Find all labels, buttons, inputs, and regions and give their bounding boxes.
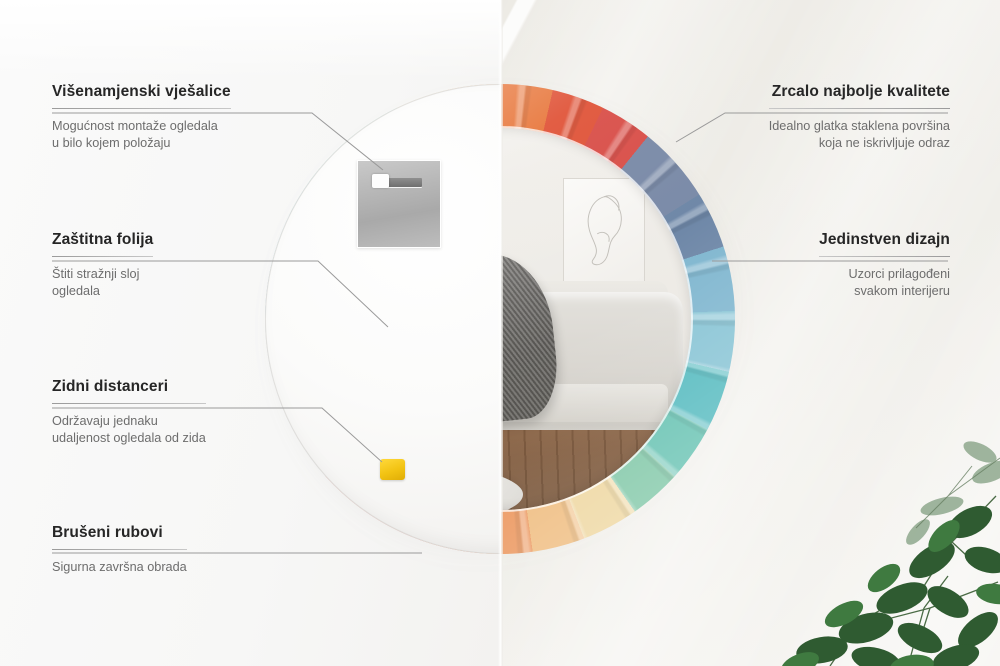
callout-protective-foil-desc-line-1: Štiti stražnji sloj <box>52 266 153 283</box>
callout-wall-spacers-title: Zidni distanceri <box>52 378 206 396</box>
callout-wall-spacers: Zidni distanceri Održavaju jednaku udalj… <box>52 378 206 447</box>
callout-protective-foil-title: Zaštitna folija <box>52 231 153 249</box>
callout-protective-foil: Zaštitna folija Štiti stražnji sloj ogle… <box>52 231 153 300</box>
callout-unique-design-title: Jedinstven dizajn <box>819 231 950 249</box>
callout-protective-foil-desc-line-2: ogledala <box>52 283 153 300</box>
callout-wall-spacers-rule <box>52 403 206 404</box>
yellow-spacer <box>380 459 405 480</box>
callout-unique-design-desc-line-1: Uzorci prilagođeni <box>819 266 950 283</box>
callout-hangers-desc-line-2: u bilo kojem položaju <box>52 135 231 152</box>
callout-mirror-quality-desc: Idealno glatka staklena površina koja ne… <box>769 118 950 152</box>
hanger-keyhole <box>372 174 389 188</box>
callout-wall-spacers-desc: Održavaju jednaku udaljenost ogledala od… <box>52 413 206 447</box>
callout-polished-edges-rule <box>52 549 187 550</box>
callout-polished-edges-title: Brušeni rubovi <box>52 524 187 542</box>
callout-unique-design-rule <box>819 256 950 257</box>
callout-polished-edges-desc-line-1: Sigurna završna obrada <box>52 559 187 576</box>
callout-wall-spacers-desc-line-2: udaljenost ogledala od zida <box>52 430 206 447</box>
callout-mirror-quality-title: Zrcalo najbolje kvalitete <box>769 83 950 101</box>
foliage-decoration <box>680 346 1000 666</box>
infographic-stage: Višenamjenski vješalice Mogućnost montaž… <box>0 0 1000 666</box>
callout-mirror-quality-desc-line-2: koja ne iskrivljuje odraz <box>769 135 950 152</box>
callout-unique-design-desc: Uzorci prilagođeni svakom interijeru <box>819 266 950 300</box>
mirror-blank-back-half <box>265 84 501 554</box>
callout-hangers-title: Višenamjenski vješalice <box>52 83 231 101</box>
background-left-fade <box>0 0 501 80</box>
hanger-plate <box>357 160 441 248</box>
callout-hangers-desc: Mogućnost montaže ogledala u bilo kojem … <box>52 118 231 152</box>
callout-wall-spacers-desc-line-1: Održavaju jednaku <box>52 413 206 430</box>
callout-hangers: Višenamjenski vješalice Mogućnost montaž… <box>52 83 231 152</box>
callout-hangers-desc-line-1: Mogućnost montaže ogledala <box>52 118 231 135</box>
callout-mirror-quality-desc-line-1: Idealno glatka staklena površina <box>769 118 950 135</box>
mirror-back-edge <box>265 84 501 554</box>
callout-hangers-rule <box>52 108 231 109</box>
callout-protective-foil-desc: Štiti stražnji sloj ogledala <box>52 266 153 300</box>
callout-polished-edges-desc: Sigurna završna obrada <box>52 559 187 576</box>
callout-polished-edges: Brušeni rubovi Sigurna završna obrada <box>52 524 187 576</box>
callout-protective-foil-rule <box>52 256 153 257</box>
callout-unique-design-desc-line-2: svakom interijeru <box>819 283 950 300</box>
split-divider <box>498 0 503 666</box>
callout-mirror-quality: Zrcalo najbolje kvalitete Idealno glatka… <box>769 83 950 152</box>
callout-mirror-quality-rule <box>769 108 950 109</box>
callout-unique-design: Jedinstven dizajn Uzorci prilagođeni sva… <box>819 231 950 300</box>
